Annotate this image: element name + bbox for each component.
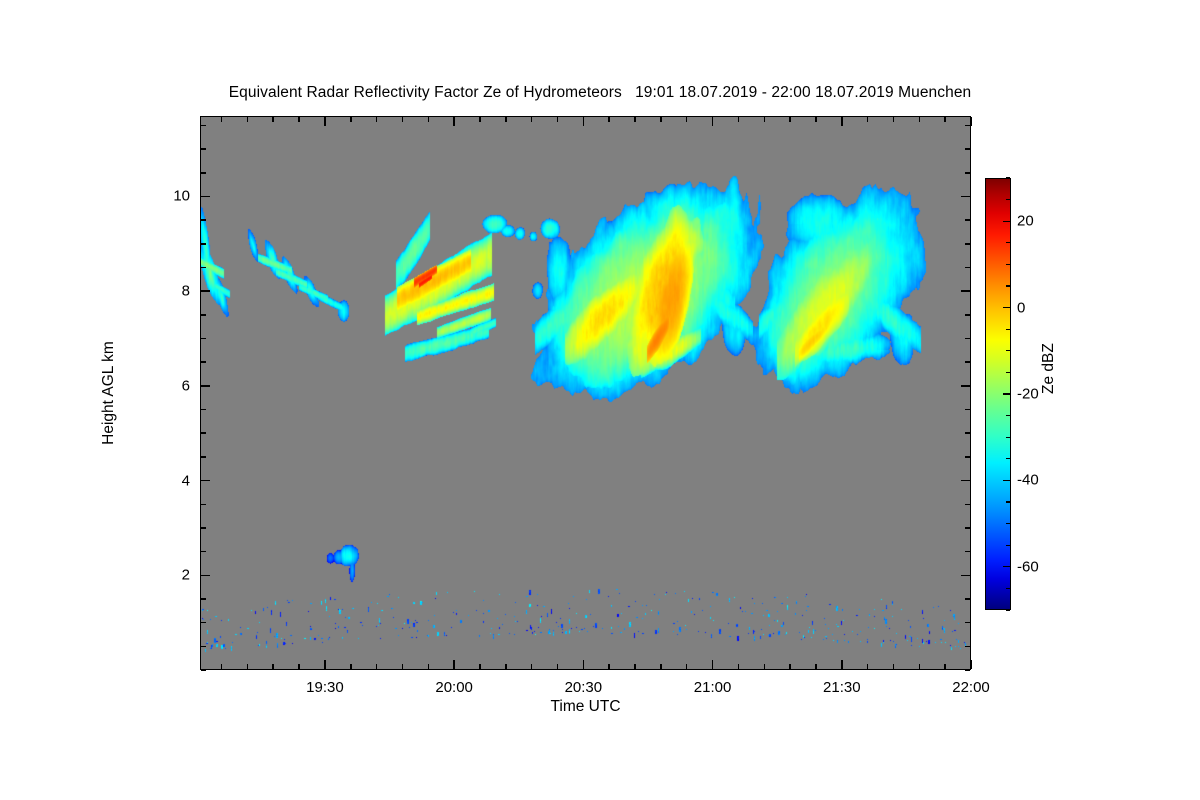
- y-tick-major: [961, 385, 970, 387]
- x-tick-label: 21:00: [694, 679, 732, 696]
- x-tick-major: [324, 660, 326, 669]
- y-tick-major: [201, 575, 210, 577]
- x-tick-minor: [764, 664, 766, 669]
- x-tick-minor: [350, 117, 352, 122]
- x-tick-minor: [272, 664, 274, 669]
- y-tick-label: 10: [142, 188, 190, 205]
- colorbar-tick-major: [1003, 221, 1010, 222]
- colorbar-tick-minor: [1006, 350, 1010, 351]
- y-tick-minor: [965, 338, 970, 340]
- y-tick-major: [961, 196, 970, 198]
- x-tick-major: [324, 117, 326, 126]
- x-tick-minor: [893, 117, 895, 122]
- y-tick-minor: [965, 456, 970, 458]
- x-tick-minor: [479, 117, 481, 122]
- colorbar-tick-label: -60: [1017, 558, 1039, 575]
- y-tick-minor: [201, 219, 206, 221]
- radar-echo-heatmap: [201, 117, 971, 670]
- y-tick-minor: [965, 219, 970, 221]
- x-tick-minor: [867, 117, 869, 122]
- y-tick-minor: [965, 172, 970, 174]
- colorbar-tick-minor: [1006, 545, 1010, 546]
- y-tick-minor: [201, 669, 206, 671]
- y-tick-label: 4: [142, 472, 190, 489]
- y-tick-minor: [965, 504, 970, 506]
- y-tick-minor: [965, 622, 970, 624]
- y-tick-minor: [965, 527, 970, 529]
- y-tick-major: [201, 480, 210, 482]
- colorbar-tick-minor: [1006, 415, 1010, 416]
- y-tick-minor: [201, 456, 206, 458]
- colorbar-tick-label: -40: [1017, 472, 1039, 489]
- x-tick-minor: [634, 664, 636, 669]
- x-tick-minor: [919, 117, 921, 122]
- y-tick-minor: [201, 148, 206, 150]
- x-tick-minor: [919, 664, 921, 669]
- y-tick-label: 6: [142, 377, 190, 394]
- colorbar-tick-major: [1003, 393, 1010, 394]
- y-tick-minor: [201, 527, 206, 529]
- colorbar-title: Ze dBZ: [1040, 343, 1058, 394]
- x-tick-major: [453, 117, 455, 126]
- x-tick-minor: [634, 117, 636, 122]
- x-tick-minor: [402, 664, 404, 669]
- x-tick-minor: [608, 117, 610, 122]
- colorbar-tick-label: 20: [1017, 213, 1034, 230]
- y-tick-minor: [201, 172, 206, 174]
- plot-area: [200, 116, 971, 670]
- x-tick-minor: [376, 664, 378, 669]
- x-tick-minor: [531, 117, 533, 122]
- y-tick-minor: [201, 551, 206, 553]
- x-tick-minor: [789, 664, 791, 669]
- x-tick-minor: [505, 117, 507, 122]
- y-tick-minor: [965, 361, 970, 363]
- x-tick-minor: [815, 117, 817, 122]
- radar-reflectivity-figure: Equivalent Radar Reflectivity Factor Ze …: [0, 0, 1200, 800]
- x-tick-minor: [247, 664, 249, 669]
- x-axis-title: Time UTC: [200, 698, 971, 716]
- colorbar-tick-minor: [1006, 458, 1010, 459]
- y-tick-minor: [965, 314, 970, 316]
- y-tick-label: 8: [142, 283, 190, 300]
- colorbar-tick-minor: [1006, 501, 1010, 502]
- colorbar-tick-minor: [1006, 609, 1010, 610]
- x-tick-minor: [428, 117, 430, 122]
- x-tick-label: 22:00: [952, 679, 990, 696]
- y-tick-minor: [965, 551, 970, 553]
- x-tick-minor: [893, 664, 895, 669]
- colorbar-tick-minor: [1006, 285, 1010, 286]
- x-tick-label: 21:30: [823, 679, 861, 696]
- y-tick-minor: [965, 669, 970, 671]
- x-tick-minor: [660, 117, 662, 122]
- x-tick-label: 20:30: [565, 679, 603, 696]
- colorbar-tick-label: -20: [1017, 386, 1039, 403]
- y-tick-major: [201, 196, 210, 198]
- x-tick-major: [453, 660, 455, 669]
- colorbar-tick-minor: [1006, 199, 1010, 200]
- x-tick-minor: [660, 664, 662, 669]
- x-tick-minor: [557, 117, 559, 122]
- x-tick-major: [712, 117, 714, 126]
- y-tick-minor: [965, 409, 970, 411]
- x-tick-minor: [944, 664, 946, 669]
- x-tick-minor: [608, 664, 610, 669]
- x-tick-minor: [531, 664, 533, 669]
- x-tick-minor: [298, 117, 300, 122]
- x-tick-label: 20:00: [435, 679, 473, 696]
- colorbar-tick-label: 0: [1017, 299, 1025, 316]
- x-tick-major: [970, 117, 972, 126]
- x-tick-major: [970, 660, 972, 669]
- x-tick-minor: [686, 664, 688, 669]
- y-tick-minor: [201, 125, 206, 127]
- x-tick-minor: [221, 664, 223, 669]
- x-tick-minor: [376, 117, 378, 122]
- x-tick-minor: [686, 117, 688, 122]
- colorbar-tick-minor: [1006, 177, 1010, 178]
- y-tick-minor: [965, 125, 970, 127]
- x-tick-minor: [764, 117, 766, 122]
- x-tick-minor: [350, 664, 352, 669]
- colorbar-tick-minor: [1006, 588, 1010, 589]
- y-tick-minor: [201, 314, 206, 316]
- y-axis-title: Height AGL km: [100, 293, 118, 493]
- y-tick-major: [961, 290, 970, 292]
- y-tick-label: 2: [142, 567, 190, 584]
- y-tick-minor: [965, 148, 970, 150]
- x-tick-minor: [298, 664, 300, 669]
- colorbar-tick-major: [1003, 566, 1010, 567]
- x-tick-minor: [815, 664, 817, 669]
- y-tick-minor: [201, 409, 206, 411]
- colorbar-tick-minor: [1006, 523, 1010, 524]
- y-tick-minor: [965, 646, 970, 648]
- y-tick-major: [961, 575, 970, 577]
- colorbar-tick-minor: [1006, 437, 1010, 438]
- y-tick-minor: [965, 267, 970, 269]
- y-tick-minor: [201, 646, 206, 648]
- colorbar-tick-minor: [1006, 329, 1010, 330]
- x-tick-minor: [428, 664, 430, 669]
- x-tick-minor: [944, 117, 946, 122]
- y-tick-major: [201, 290, 210, 292]
- x-tick-minor: [738, 664, 740, 669]
- x-tick-minor: [557, 664, 559, 669]
- colorbar-tick-minor: [1006, 242, 1010, 243]
- y-tick-minor: [965, 243, 970, 245]
- x-tick-major: [841, 117, 843, 126]
- colorbar-tick-minor: [1006, 264, 1010, 265]
- y-tick-minor: [201, 622, 206, 624]
- x-tick-major: [583, 660, 585, 669]
- x-tick-major: [712, 660, 714, 669]
- x-tick-major: [841, 660, 843, 669]
- x-tick-minor: [867, 664, 869, 669]
- y-tick-minor: [201, 432, 206, 434]
- x-tick-label: 19:30: [306, 679, 344, 696]
- y-tick-minor: [965, 598, 970, 600]
- figure-title: Equivalent Radar Reflectivity Factor Ze …: [0, 84, 1200, 102]
- x-tick-minor: [738, 117, 740, 122]
- x-tick-minor: [479, 664, 481, 669]
- y-tick-minor: [201, 243, 206, 245]
- y-tick-minor: [201, 338, 206, 340]
- y-tick-major: [961, 480, 970, 482]
- x-tick-minor: [402, 117, 404, 122]
- x-tick-minor: [247, 117, 249, 122]
- y-tick-minor: [965, 432, 970, 434]
- x-tick-minor: [221, 117, 223, 122]
- y-tick-major: [201, 385, 210, 387]
- x-tick-minor: [505, 664, 507, 669]
- y-tick-minor: [201, 361, 206, 363]
- colorbar-tick-minor: [1006, 372, 1010, 373]
- x-tick-minor: [789, 117, 791, 122]
- x-tick-major: [583, 117, 585, 126]
- colorbar-tick-major: [1003, 480, 1010, 481]
- y-tick-minor: [201, 598, 206, 600]
- y-tick-minor: [201, 267, 206, 269]
- x-tick-minor: [272, 117, 274, 122]
- y-tick-minor: [201, 504, 206, 506]
- colorbar-tick-major: [1003, 307, 1010, 308]
